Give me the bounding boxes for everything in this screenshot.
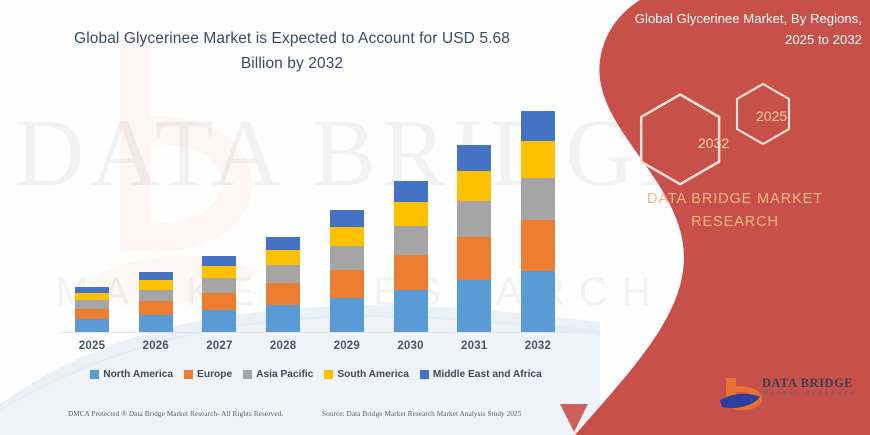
- x-axis-tick-label: 2029: [325, 340, 369, 352]
- bar-column: [325, 92, 369, 332]
- bar-segment: [330, 210, 364, 227]
- legend-swatch-icon: [420, 370, 429, 379]
- bar-segment: [202, 310, 236, 332]
- stacked-bar: [266, 237, 300, 332]
- bar-segment: [394, 290, 428, 332]
- bar-segment: [202, 256, 236, 266]
- legend-item[interactable]: Asia Pacific: [243, 369, 313, 380]
- bar-column: [452, 92, 496, 332]
- x-axis-tick-labels: 20252026202720282029203020312032: [70, 340, 560, 352]
- x-axis-line: [60, 332, 570, 333]
- stacked-bar: [457, 145, 491, 332]
- bar-column: [261, 92, 305, 332]
- bar-segment: [139, 280, 173, 290]
- bar-segment: [457, 237, 491, 281]
- chart-legend: North AmericaEuropeAsia PacificSouth Ame…: [70, 369, 562, 380]
- bar-segment: [521, 220, 555, 271]
- legend-label: Europe: [197, 369, 232, 380]
- stacked-bar: [521, 111, 555, 332]
- legend-label: Middle East and Africa: [433, 369, 542, 380]
- bar-segment: [521, 141, 555, 177]
- legend-swatch-icon: [243, 370, 252, 379]
- stacked-bar: [394, 181, 428, 332]
- logo-name: DATA BRIDGE: [762, 376, 853, 391]
- footer-source-text: Source: Data Bridge Market Research Mark…: [322, 410, 521, 418]
- infographic-canvas: DATA BRIDGE MARKET RESEARCH Global Glyce…: [0, 0, 870, 435]
- bar-segment: [202, 293, 236, 311]
- bar-segment: [139, 301, 173, 315]
- bar-segment: [202, 266, 236, 278]
- bar-segment: [521, 178, 555, 220]
- bar-segment: [266, 265, 300, 283]
- x-axis-tick-label: 2026: [134, 340, 178, 352]
- bar-segment: [139, 290, 173, 301]
- hexagon-label-2032: 2032: [698, 135, 729, 151]
- bar-segment: [330, 227, 364, 247]
- bar-segment: [266, 305, 300, 332]
- bar-segment: [330, 298, 364, 332]
- logo-tagline: MARKET RESEARCH: [763, 391, 857, 397]
- bar-segment: [330, 246, 364, 269]
- stacked-bar: [139, 272, 173, 332]
- x-axis-tick-label: 2028: [261, 340, 305, 352]
- x-axis-tick-label: 2031: [452, 340, 496, 352]
- x-axis-tick-label: 2025: [70, 340, 114, 352]
- bar-segment: [330, 270, 364, 299]
- bar-segment: [75, 293, 109, 300]
- bar-segment: [75, 309, 109, 319]
- bar-column: [70, 92, 114, 332]
- bar-column: [389, 92, 433, 332]
- bar-column: [516, 92, 560, 332]
- data-bridge-logo: DATA BRIDGE MARKET RESEARCH: [718, 374, 858, 414]
- hexagon-label-2025: 2025: [756, 108, 787, 124]
- bar-segment: [266, 237, 300, 250]
- footer-dmca-text: DMCA Protected ® Data Bridge Market Rese…: [68, 410, 283, 418]
- stacked-bar: [202, 256, 236, 332]
- bar-segment: [457, 201, 491, 237]
- bar-segment: [394, 181, 428, 202]
- chart-title: Global Glycerinee Market is Expected to …: [52, 26, 532, 76]
- bar-segment: [457, 145, 491, 171]
- bar-segment: [266, 283, 300, 305]
- chart-panel: Global Glycerinee Market is Expected to …: [0, 0, 600, 435]
- bar-segment: [139, 315, 173, 332]
- stacked-bar: [330, 210, 364, 332]
- bar-segment: [139, 272, 173, 280]
- legend-item[interactable]: Europe: [184, 369, 232, 380]
- stacked-bar: [75, 287, 109, 332]
- legend-item[interactable]: Middle East and Africa: [420, 369, 542, 380]
- bar-segment: [394, 226, 428, 255]
- legend-label: South America: [337, 369, 409, 380]
- right-panel-title: Global Glycerinee Market, By Regions, 20…: [608, 8, 862, 50]
- bar-segment: [521, 271, 555, 332]
- bar-column: [197, 92, 241, 332]
- hexagon-group: 2032 2025: [644, 82, 834, 172]
- bar-segment: [394, 202, 428, 226]
- bar-column: [134, 92, 178, 332]
- bar-segment: [75, 319, 109, 332]
- legend-label: Asia Pacific: [256, 369, 313, 380]
- legend-swatch-icon: [90, 370, 99, 379]
- x-axis-tick-label: 2027: [197, 340, 241, 352]
- legend-swatch-icon: [184, 370, 193, 379]
- bar-segment: [394, 255, 428, 290]
- legend-item[interactable]: South America: [324, 369, 409, 380]
- x-axis-tick-label: 2032: [516, 340, 560, 352]
- bar-segment: [457, 171, 491, 201]
- legend-swatch-icon: [324, 370, 333, 379]
- bar-segment: [202, 278, 236, 292]
- right-panel: Global Glycerinee Market, By Regions, 20…: [600, 0, 870, 435]
- bar-segment: [457, 280, 491, 332]
- bar-segment: [266, 250, 300, 265]
- legend-item[interactable]: North America: [90, 369, 173, 380]
- brand-name: DATA BRIDGE MARKET RESEARCH: [610, 188, 860, 234]
- legend-label: North America: [103, 369, 173, 380]
- x-axis-tick-label: 2030: [389, 340, 433, 352]
- stacked-bar-chart: [70, 92, 560, 332]
- bar-segment: [521, 111, 555, 141]
- bar-segment: [75, 300, 109, 308]
